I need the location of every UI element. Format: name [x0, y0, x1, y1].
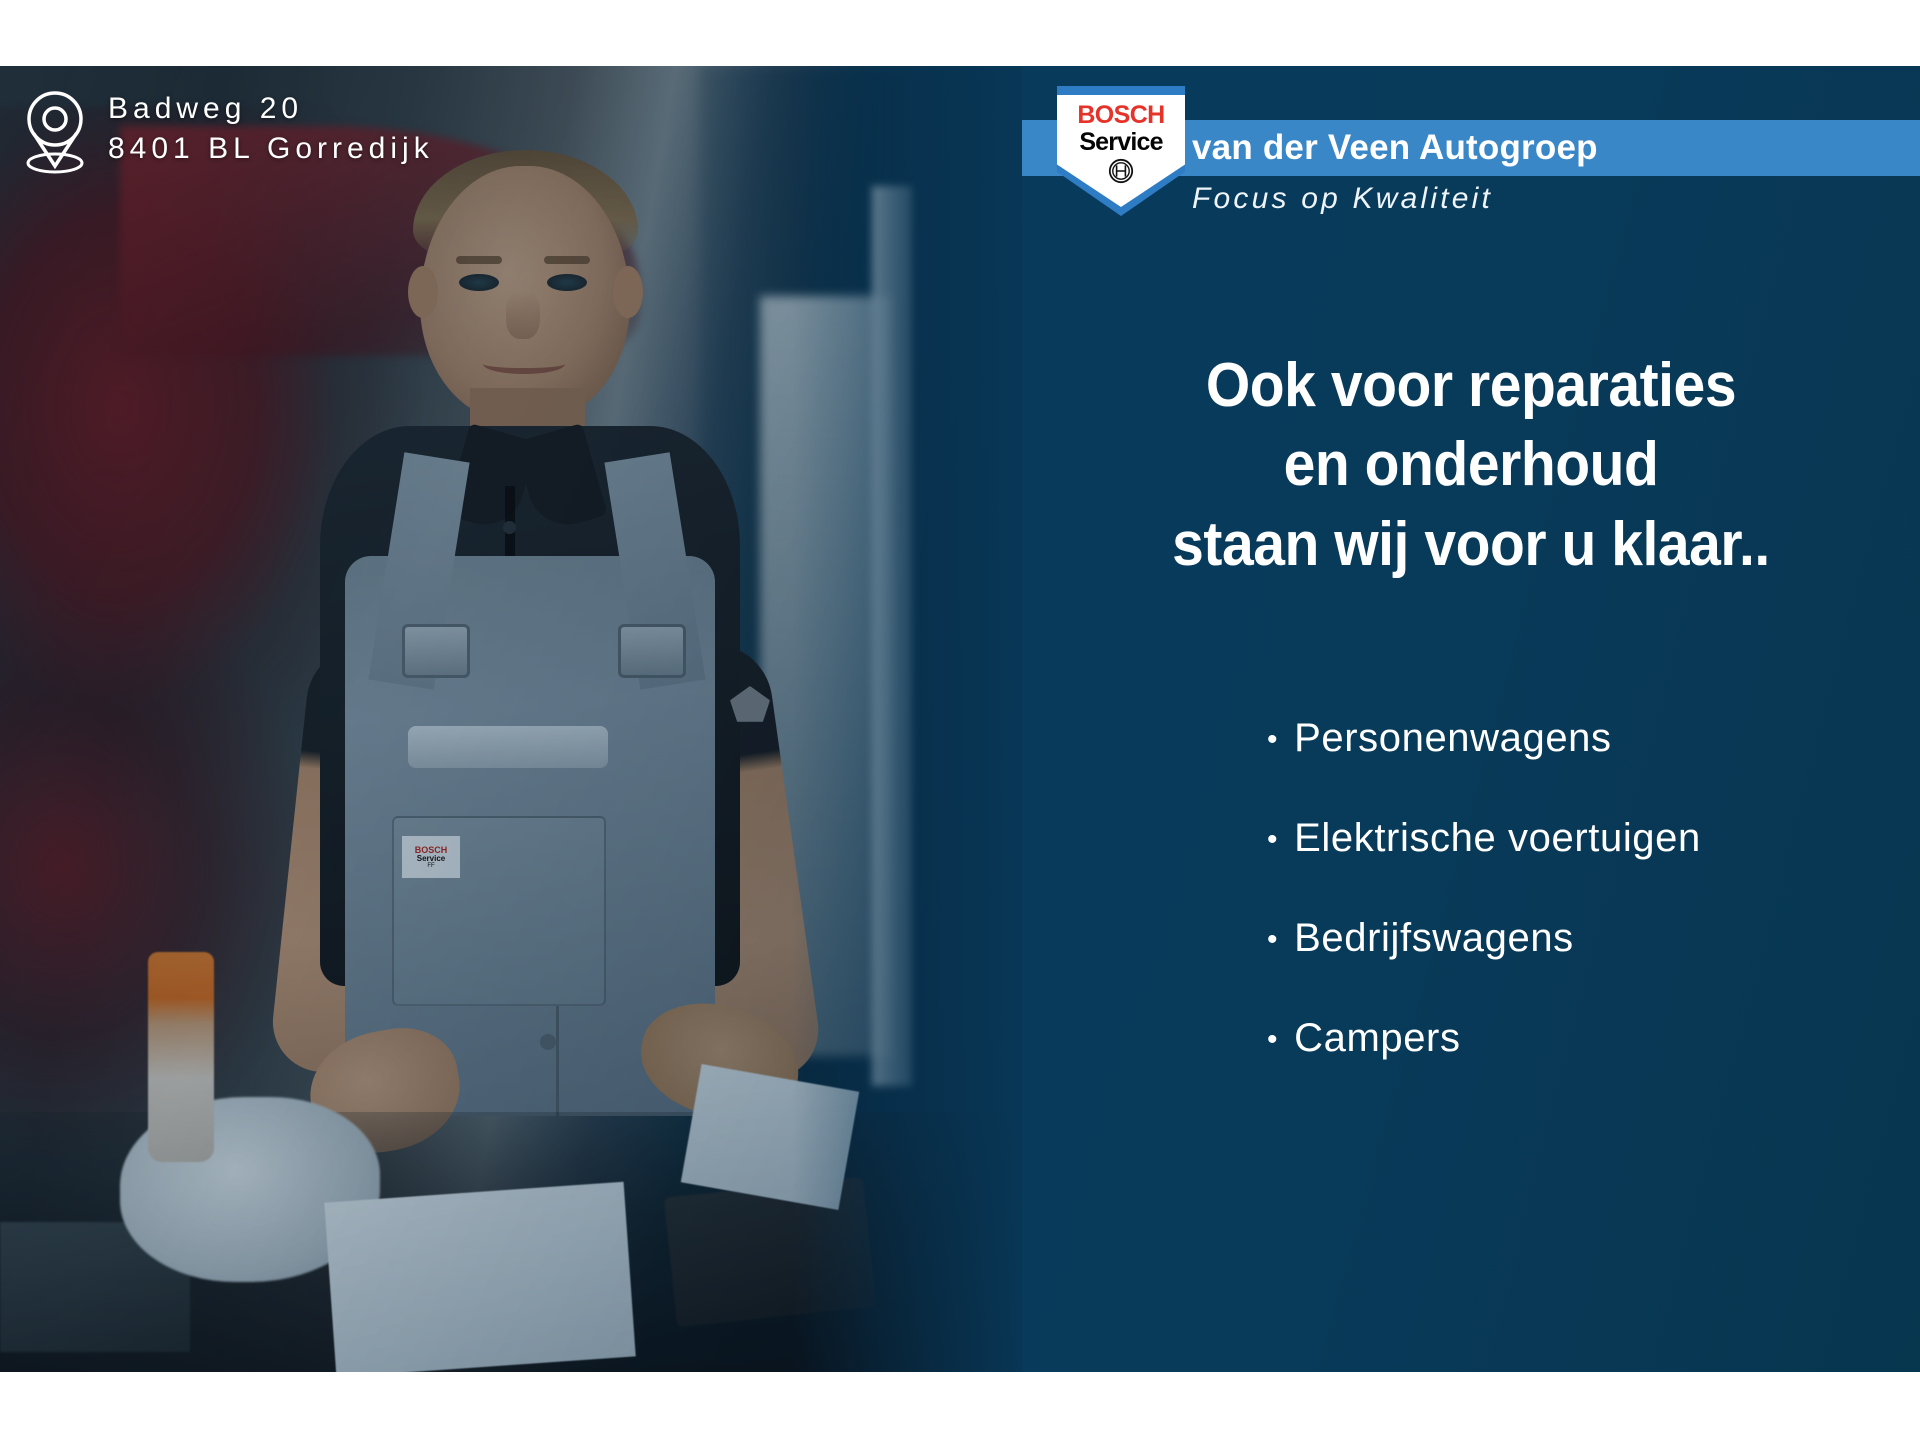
banner-body: BOSCH Service FF: [0, 66, 1920, 1372]
bosch-service-word: Service: [1079, 130, 1162, 155]
bullet-icon: •: [1267, 825, 1278, 855]
bosch-logo-plate: BOSCH Service: [1057, 95, 1185, 207]
bullet-icon: •: [1267, 925, 1278, 955]
list-item: • Elektrische voertuigen: [1022, 816, 1920, 861]
location-pin-icon: [24, 88, 86, 174]
headline-line-1: Ook voor reparaties: [1058, 346, 1884, 425]
service-label: Bedrijfswagens: [1294, 916, 1574, 961]
bullet-icon: •: [1267, 725, 1278, 755]
headline-line-2: en onderhoud: [1058, 425, 1884, 504]
service-list: • Personenwagens • Elektrische voertuige…: [1022, 716, 1920, 1116]
address-overlay: Badweg 20 8401 BL Gorredijk: [24, 86, 434, 174]
brand-header: van der Veen Autogroep Focus op Kwalitei…: [1022, 86, 1920, 226]
service-label: Personenwagens: [1294, 716, 1612, 761]
mechanic-in-garage-photo: BOSCH Service FF: [0, 66, 1022, 1372]
address-city: 8401 BL Gorredijk: [108, 132, 434, 166]
service-label: Elektrische voertuigen: [1294, 816, 1701, 861]
headline-line-3: staan wij voor u klaar..: [1058, 505, 1884, 584]
bosch-service-logo: BOSCH Service: [1057, 86, 1185, 216]
company-tagline: Focus op Kwaliteit: [1192, 182, 1920, 216]
bullet-icon: •: [1267, 1025, 1278, 1055]
bosch-armature-icon: [1108, 158, 1134, 184]
list-item: • Bedrijfswagens: [1022, 916, 1920, 961]
info-panel: van der Veen Autogroep Focus op Kwalitei…: [1022, 66, 1920, 1372]
service-label: Campers: [1294, 1016, 1460, 1061]
list-item: • Personenwagens: [1022, 716, 1920, 761]
address-street: Badweg 20: [108, 92, 434, 126]
bosch-wordmark: BOSCH: [1077, 103, 1164, 128]
address-lines: Badweg 20 8401 BL Gorredijk: [108, 86, 434, 166]
advertisement-banner: BOSCH Service FF: [0, 0, 1920, 1440]
company-name: van der Veen Autogroep: [1192, 120, 1920, 176]
headline: Ook voor reparaties en onderhoud staan w…: [1022, 346, 1920, 584]
photo-right-fade: [792, 66, 1022, 1372]
list-item: • Campers: [1022, 1016, 1920, 1061]
